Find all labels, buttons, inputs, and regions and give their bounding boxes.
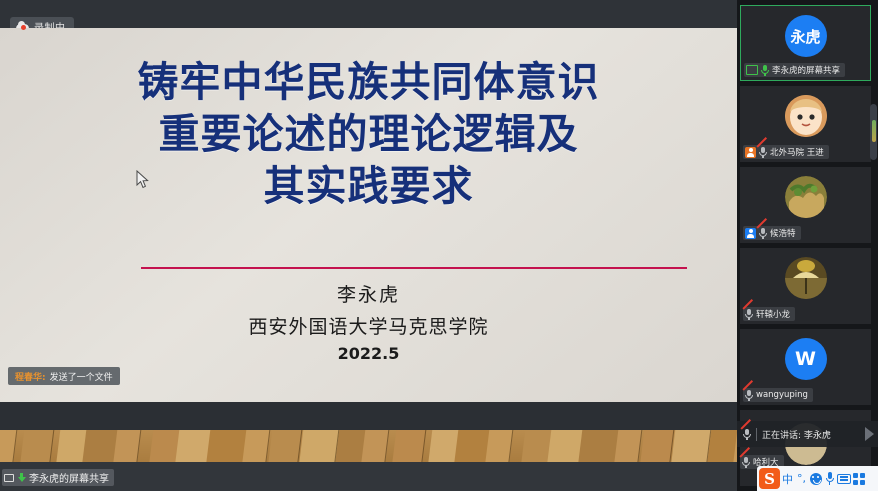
- participant-tile-0[interactable]: 永虎 李永虎的屏幕共享: [740, 5, 871, 81]
- participant-panel: 永虎 李永虎的屏幕共享: [737, 0, 878, 491]
- chat-notification-toast[interactable]: 程春华: 发送了一个文件: [8, 367, 120, 385]
- slide-date: 2022.5: [0, 344, 737, 363]
- wood-floor-image: [0, 430, 737, 462]
- floor-plank: [0, 430, 18, 462]
- chat-sender-name: 程春华:: [15, 370, 46, 383]
- user-avatar-icon: [745, 228, 756, 239]
- participant-tile-2[interactable]: 候浩特: [740, 167, 871, 243]
- slide-title-line-1: 铸牢中华民族共同体意识: [0, 56, 737, 108]
- floor-plank: [389, 430, 427, 462]
- floor-plank: [265, 430, 303, 462]
- participant-tile-3[interactable]: 轩辕小龙: [740, 248, 871, 324]
- participant-name-2: 候浩特: [770, 227, 796, 239]
- participant-label-4: wangyuping: [743, 388, 813, 402]
- taskbar-item-label: 李永虎的屏幕共享: [29, 470, 109, 485]
- participant-name-0: 李永虎的屏幕共享: [772, 64, 840, 76]
- anime-face-avatar-image: [785, 95, 827, 137]
- sogou-logo-icon[interactable]: S: [759, 468, 780, 489]
- avatar: [785, 257, 827, 299]
- microphone-on-icon: [761, 65, 769, 76]
- lamp-photo-avatar-image: [785, 257, 827, 299]
- slide-title-line-3: 其实践要求: [0, 160, 737, 212]
- punctuation-mode-button[interactable]: °,: [795, 468, 808, 489]
- floor-plank: [668, 430, 712, 462]
- floor-plank: [17, 430, 55, 462]
- avatar: W: [785, 338, 827, 380]
- scrollbar-thumb[interactable]: [872, 120, 876, 142]
- voice-input-icon[interactable]: [823, 468, 836, 489]
- floor-plank: [637, 430, 675, 462]
- floor-plank: [296, 430, 340, 462]
- participant-tile-4[interactable]: W wangyuping: [740, 329, 871, 405]
- chat-message-text: 发送了一个文件: [50, 370, 113, 383]
- avatar-initials: W: [795, 348, 816, 370]
- food-photo-avatar-image: [785, 176, 827, 218]
- shared-screen-topbar: [0, 0, 737, 28]
- shared-screen-area: 录制中 铸牢中华民族共同体意识 重要论述的理论逻辑及 其实践要求 李永虎 西安外…: [0, 0, 737, 462]
- chinese-mode-button[interactable]: 中: [781, 468, 794, 489]
- avatar: 永虎: [785, 15, 827, 57]
- participant-name-3: 轩辕小龙: [756, 308, 790, 320]
- participant-name-1: 北外马院 王进: [770, 146, 824, 158]
- microphone-muted-icon: [745, 309, 753, 320]
- slide-title: 铸牢中华民族共同体意识 重要论述的理论逻辑及 其实践要求: [0, 56, 737, 212]
- soft-keyboard-icon[interactable]: [837, 468, 851, 489]
- slide-title-line-2: 重要论述的理论逻辑及: [0, 108, 737, 160]
- divider: [756, 428, 757, 441]
- screen-share-icon: [746, 65, 758, 75]
- microphone-muted-icon: [742, 457, 750, 468]
- participant-name-4: wangyuping: [756, 390, 808, 400]
- monitor-icon: [4, 474, 14, 482]
- emoji-icon[interactable]: [809, 468, 822, 489]
- avatar: [785, 176, 827, 218]
- participant-label-1: 北外马院 王进: [743, 145, 829, 159]
- participant-label-3: 轩辕小龙: [743, 307, 795, 321]
- user-avatar-icon: [745, 147, 756, 158]
- participant-label-2: 候浩特: [743, 226, 801, 240]
- microphone-muted-icon: [759, 228, 767, 239]
- slide-divider: [141, 267, 687, 269]
- avatar: [785, 95, 827, 137]
- presentation-slide: 铸牢中华民族共同体意识 重要论述的理论逻辑及 其实践要求 李永虎 西安外国语大学…: [0, 28, 737, 402]
- slide-author: 李永虎: [0, 280, 737, 307]
- microphone-muted-icon: [743, 429, 751, 440]
- participant-scrollbar[interactable]: [870, 104, 877, 160]
- microphone-muted-icon: [745, 390, 753, 401]
- taskbar-item-screenshare[interactable]: 李永虎的屏幕共享: [2, 469, 114, 486]
- participant-tile-1[interactable]: 北外马院 王进: [740, 86, 871, 162]
- sogou-ime-toolbar[interactable]: S 中 °,: [757, 466, 878, 491]
- chevron-right-icon[interactable]: [865, 427, 874, 441]
- microphone-muted-icon: [759, 147, 767, 158]
- slide-organization: 西安外国语大学马克思学院: [0, 312, 737, 339]
- download-arrow-icon: [17, 473, 26, 483]
- active-speaker-bar: 正在讲话: 李永虎: [737, 421, 878, 447]
- avatar-initials: 永虎: [790, 26, 820, 47]
- active-speaker-label: 正在讲话: 李永虎: [762, 428, 831, 441]
- toolbox-icon[interactable]: [852, 468, 865, 489]
- mouse-cursor: [136, 170, 149, 189]
- participant-label-0: 李永虎的屏幕共享: [744, 63, 845, 77]
- zoom-meeting-window: 录制中 铸牢中华民族共同体意识 重要论述的理论逻辑及 其实践要求 李永虎 西安外…: [0, 0, 878, 491]
